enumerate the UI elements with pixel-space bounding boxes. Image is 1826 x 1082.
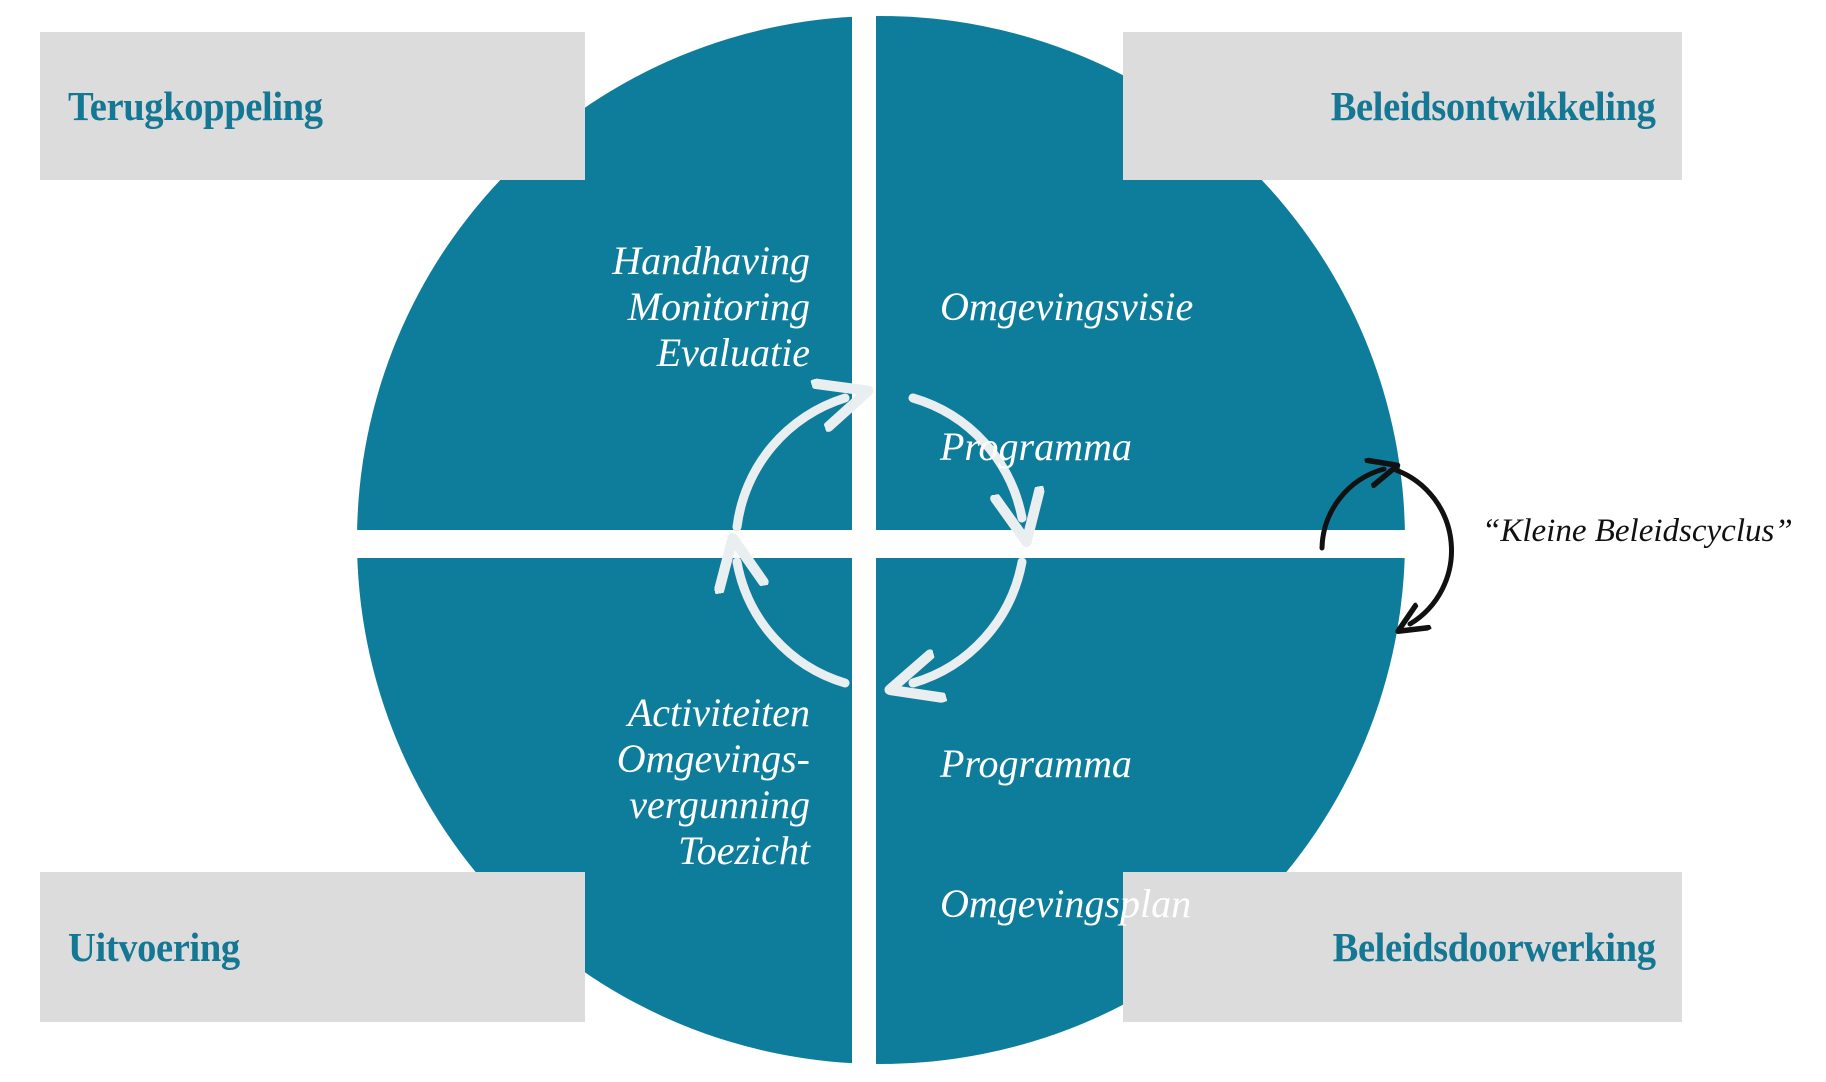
quadrant-line-programma-doorwerking: Programma bbox=[940, 741, 1360, 787]
band-terugkoppeling: Terugkoppeling bbox=[40, 32, 585, 180]
quadrant-line-programma-ontwikkeling: Programma bbox=[940, 424, 1360, 470]
quadrant-text-beleidsontwikkeling: Omgevingsvisie Programma bbox=[940, 238, 1360, 516]
inner-arrow-terugkoppeling-to-beleidsontwikkeling bbox=[737, 398, 845, 527]
quadrant-line-omgevingsplan: Omgevingsplan bbox=[940, 881, 1360, 927]
quadrant-text-terugkoppeling: Handhaving Monitoring Evaluatie bbox=[440, 238, 810, 376]
band-label-terugkoppeling: Terugkoppeling bbox=[68, 82, 323, 130]
inner-arrow-uitvoering-to-terugkoppeling bbox=[737, 562, 845, 683]
quadrant-line-omgevingsvisie: Omgevingsvisie bbox=[940, 284, 1360, 330]
quadrant-text-uitvoering: Activiteiten Omgevings- vergunning Toezi… bbox=[420, 690, 810, 874]
band-label-beleidsontwikkeling: Beleidsontwikkeling bbox=[1331, 82, 1656, 130]
inner-arrow-beleidsdoorwerking-to-uitvoering bbox=[913, 562, 1022, 683]
band-beleidsontwikkeling: Beleidsontwikkeling bbox=[1123, 32, 1682, 180]
outer-arrow-spacer bbox=[1399, 472, 1439, 616]
kleine-beleidscyclus-label: “Kleine Beleidscyclus” bbox=[1482, 513, 1793, 550]
diagram-canvas: Terugkoppeling Beleidsontwikkeling Uitvo… bbox=[0, 0, 1826, 1082]
band-label-uitvoering: Uitvoering bbox=[68, 923, 240, 971]
band-label-beleidsdoorwerking: Beleidsdoorwerking bbox=[1333, 923, 1656, 971]
band-uitvoering: Uitvoering bbox=[40, 872, 585, 1022]
quadrant-text-beleidsdoorwerking: Programma Omgevingsplan bbox=[940, 695, 1360, 973]
outer-arrow-right-down bbox=[1396, 470, 1451, 624]
